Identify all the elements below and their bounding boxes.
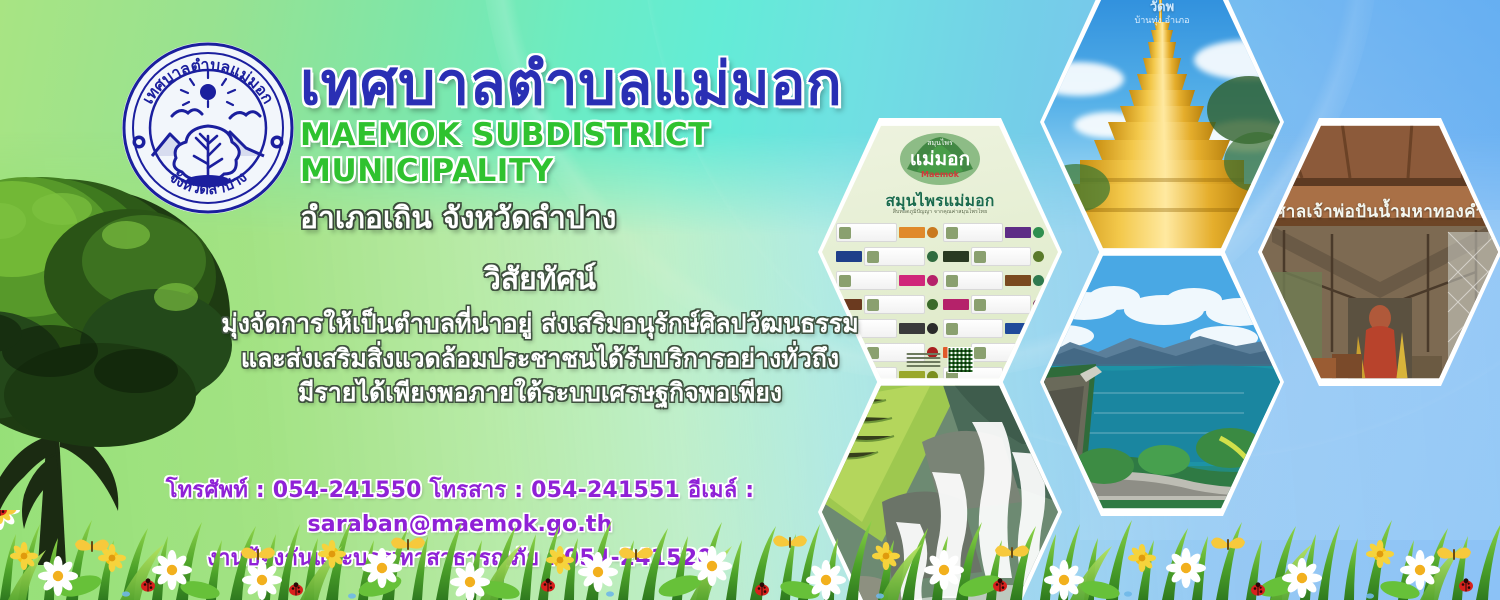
herb-product-item — [943, 246, 1045, 267]
reservoir-illustration-icon — [1044, 252, 1280, 512]
pagoda-caption-secondary: บ้านทุ่ง อำเภอ — [1044, 16, 1280, 27]
herb-poster-contact-block — [907, 347, 974, 373]
vision-line-3: มีรายได้เพียงพอภายใต้ระบบเศรษฐกิจพอเพียง — [180, 376, 900, 411]
svg-text:สมุนไพร: สมุนไพร — [927, 138, 953, 147]
herb-product-item — [943, 294, 1045, 315]
vision-line-2: และส่งเสริมสิ่งแวดล้อมประชาชนได้รับบริกา… — [180, 342, 900, 377]
grass-flowers-icon — [0, 510, 1500, 600]
municipality-seal-logo[interactable]: เทศบาลตำบลแม่มอก จังหวัดลำปาง — [118, 38, 298, 218]
municipal-seal-icon: เทศบาลตำบลแม่มอก จังหวัดลำปาง — [118, 38, 298, 218]
header-text-block: เทศบาลตำบลแม่มอก MAEMOK SUBDISTRICT MUNI… — [300, 54, 920, 242]
qr-code-icon — [948, 347, 974, 373]
shrine-sign-text: ศาลเจ้าพ่อปันน้ำมหาทองคำ — [1262, 198, 1498, 225]
municipality-banner: สมุนไพร แม่มอก Maemok สมุนไพรแม่มอก สืบท… — [0, 0, 1500, 600]
herb-product-item — [943, 222, 1045, 243]
pagoda-caption: วัดพ — [1044, 0, 1280, 17]
hexagon-reservoir-dam[interactable] — [1044, 252, 1280, 512]
page-subtitle-thai: อำเภอเถิน จังหวัดลำปาง — [300, 195, 920, 242]
page-title-thai: เทศบาลตำบลแม่มอก — [300, 54, 920, 115]
grass-flower-strip — [0, 510, 1500, 600]
herb-product-item — [943, 270, 1045, 291]
vision-heading: วิสัยทัศน์ — [180, 256, 900, 303]
page-title-english: MAEMOK SUBDISTRICT MUNICIPALITY — [300, 117, 920, 189]
herb-poster-contact-lines — [907, 353, 941, 368]
shrine-illustration-icon — [1262, 122, 1498, 382]
hexagon-shrine-pavilion[interactable]: ศาลเจ้าพ่อปันน้ำมหาทองคำ — [1262, 122, 1498, 382]
vision-block: วิสัยทัศน์ มุ่งจัดการให้เป็นตำบลที่น่าอย… — [180, 256, 900, 411]
vision-line-1: มุ่งจัดการให้เป็นตำบลที่น่าอยู่ ส่งเสริม… — [180, 307, 900, 342]
svg-text:Maemok: Maemok — [921, 170, 960, 179]
